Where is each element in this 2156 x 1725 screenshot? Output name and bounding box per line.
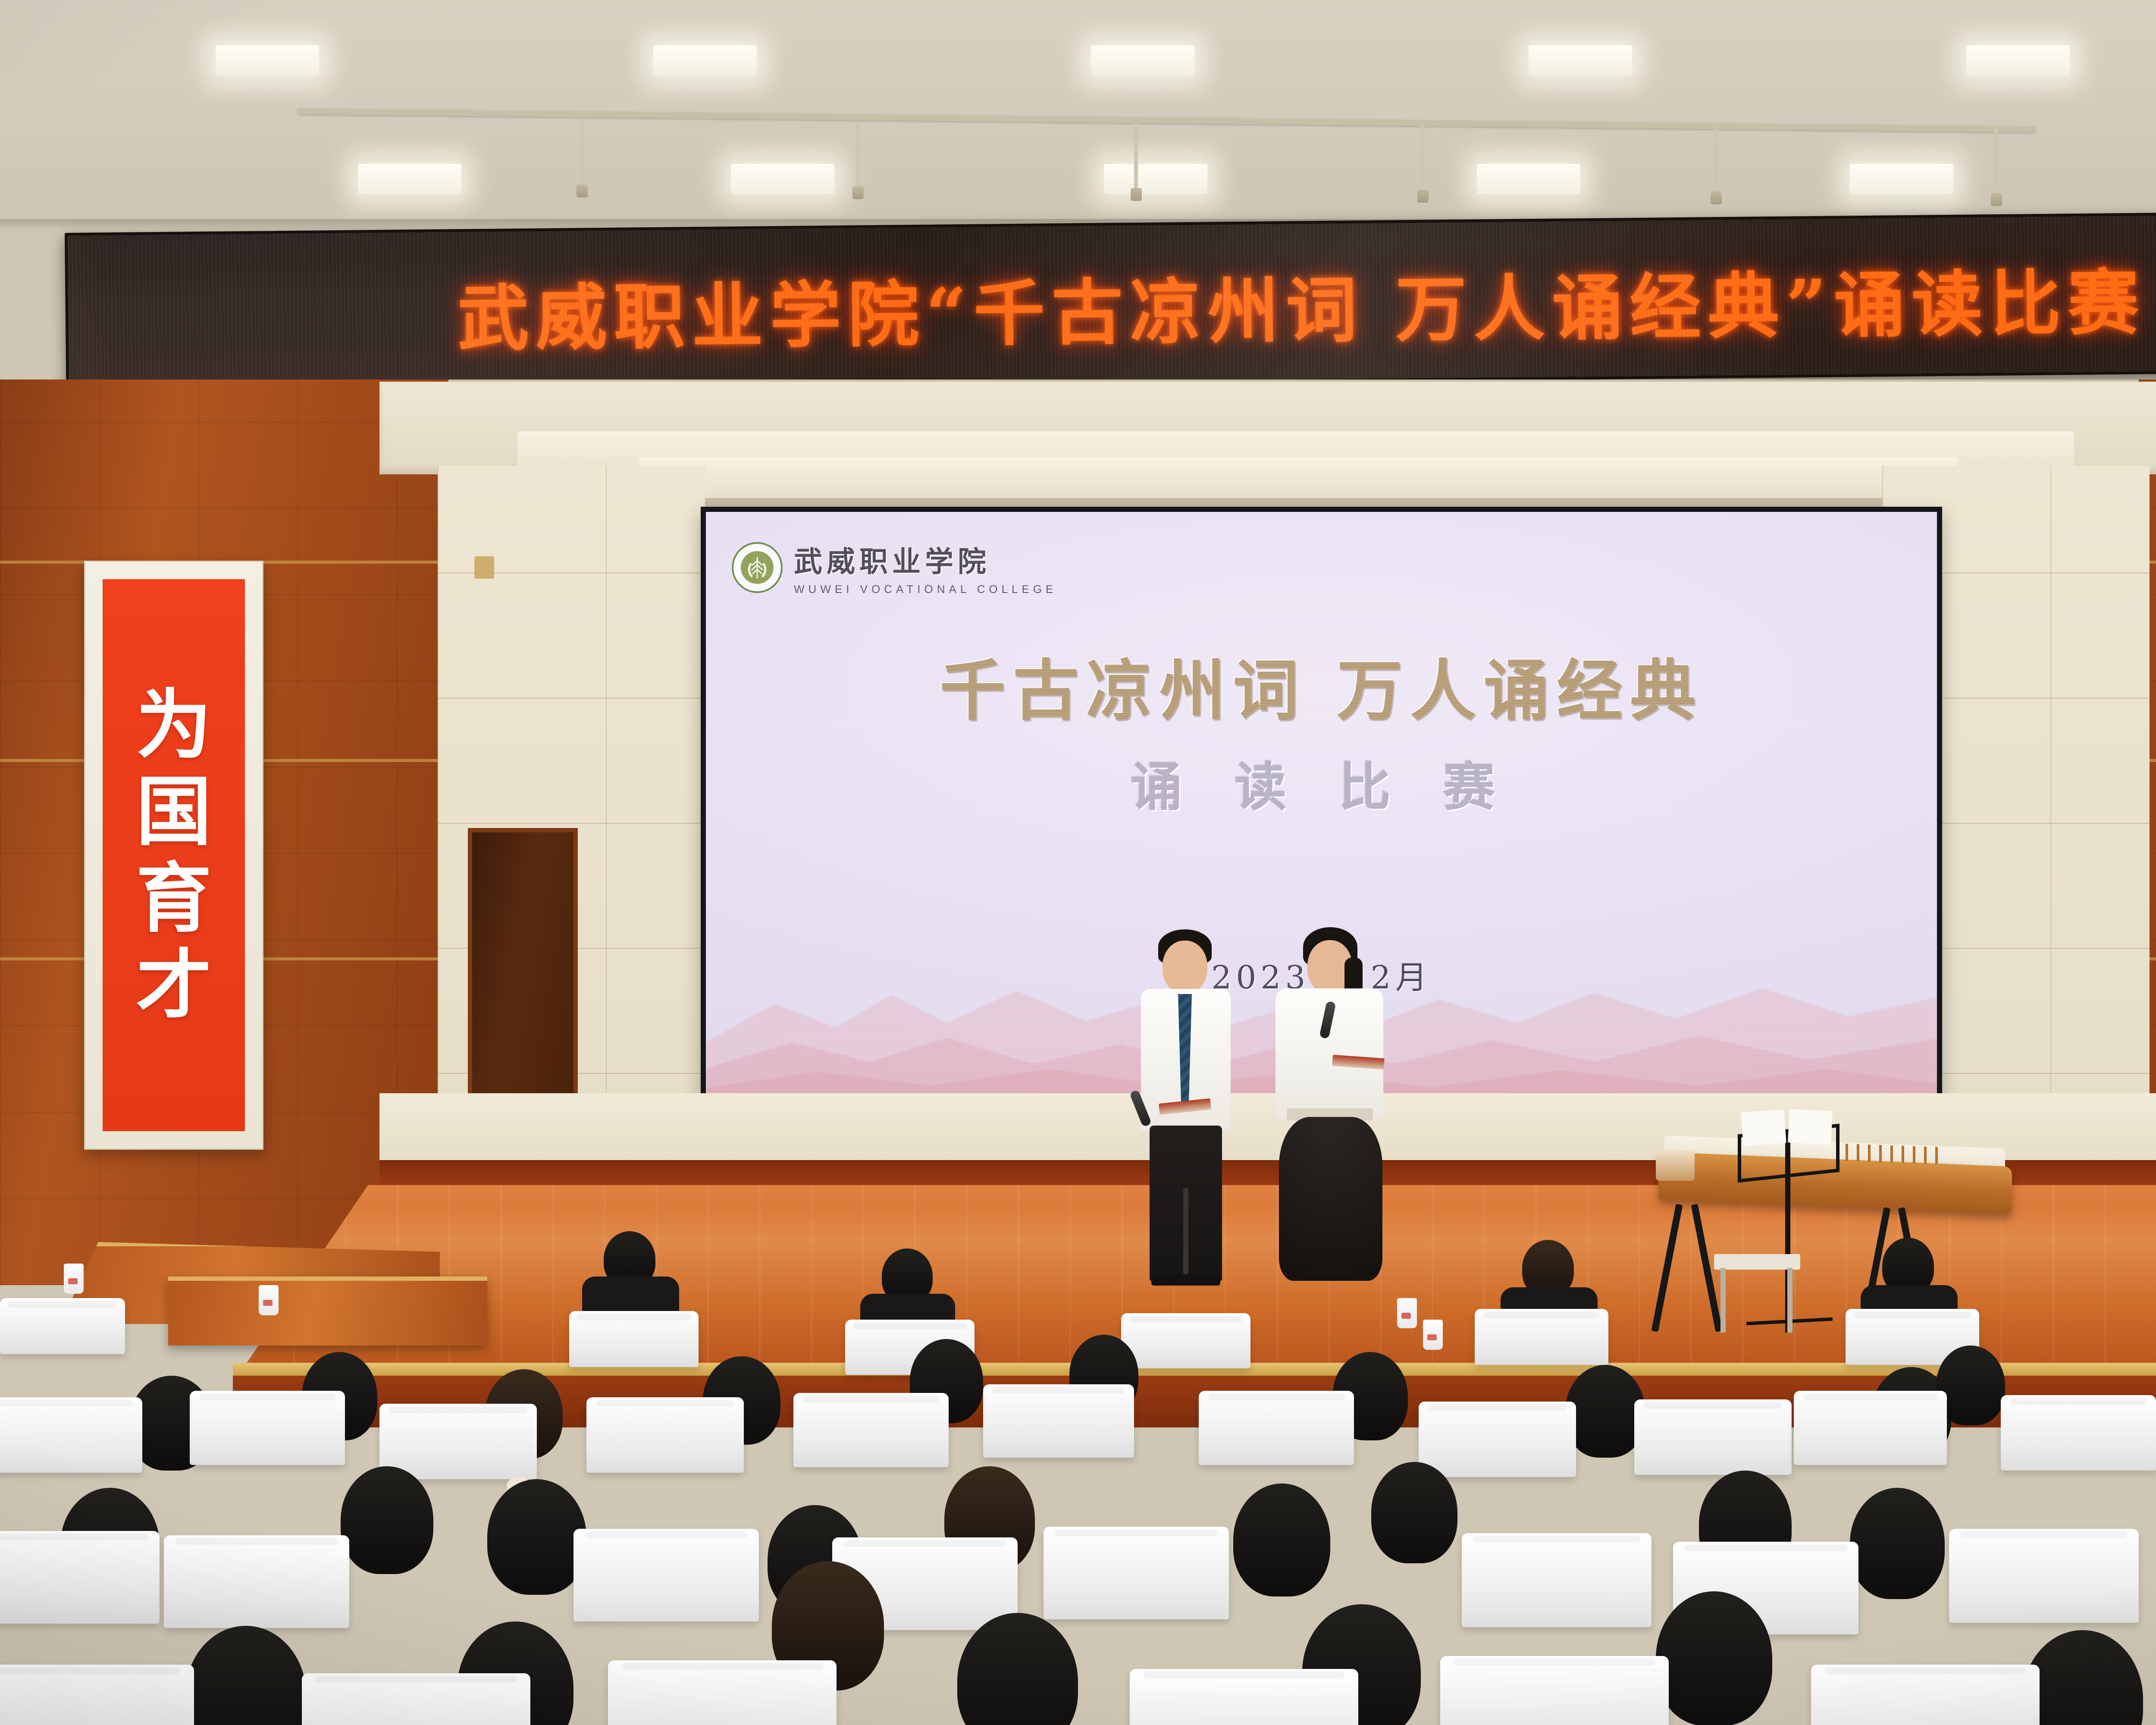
male-host-trouser-gap bbox=[1183, 1188, 1188, 1281]
paper-cup bbox=[1423, 1320, 1443, 1350]
audience-head bbox=[341, 1466, 433, 1574]
seat bbox=[1419, 1402, 1576, 1477]
audience-head bbox=[1233, 1483, 1330, 1596]
recessed-light-icon bbox=[1966, 45, 2070, 75]
spotlight-icon bbox=[1711, 191, 1722, 204]
recessed-light-icon bbox=[1104, 164, 1207, 194]
seat bbox=[0, 1531, 160, 1624]
seat bbox=[1130, 1669, 1358, 1725]
recessed-light-icon bbox=[731, 164, 834, 194]
guzheng-stand-leg-left bbox=[1651, 1204, 1683, 1332]
spotlight-stem bbox=[1421, 125, 1425, 194]
scroll-banner-left: 为 国 育 才 bbox=[84, 561, 263, 1150]
seat bbox=[379, 1404, 537, 1479]
college-crest-icon bbox=[732, 542, 783, 593]
sheet-music-right bbox=[1788, 1109, 1833, 1145]
performer-stool-leg bbox=[1787, 1268, 1792, 1333]
audience-head bbox=[1656, 1591, 1772, 1725]
audience-head bbox=[1850, 1488, 1945, 1599]
slide-title-sub: 诵 读 比 赛 bbox=[706, 745, 1937, 820]
spotlight-stem bbox=[856, 122, 860, 191]
front-desk-left-2 bbox=[168, 1276, 487, 1345]
spotlight-stem bbox=[1134, 123, 1138, 192]
scroll-left-char-2: 国 bbox=[136, 774, 212, 850]
male-host-head bbox=[1163, 941, 1207, 993]
paper-cup bbox=[259, 1285, 279, 1315]
seat bbox=[1811, 1665, 2040, 1725]
seat bbox=[190, 1391, 345, 1465]
recessed-light-icon bbox=[358, 164, 461, 194]
recessed-light-icon bbox=[1529, 45, 1632, 75]
recessed-light-icon bbox=[216, 45, 319, 75]
spotlight-icon bbox=[1991, 193, 2002, 206]
guzheng-bridges bbox=[1846, 1144, 1940, 1164]
seat bbox=[793, 1393, 949, 1467]
spotlight-icon bbox=[852, 186, 864, 199]
ceiling bbox=[0, 0, 2156, 229]
seat bbox=[1199, 1391, 1354, 1465]
seat bbox=[1121, 1313, 1250, 1368]
seat bbox=[1440, 1656, 1669, 1725]
scroll-left-char-1: 为 bbox=[136, 687, 212, 763]
audience-head bbox=[185, 1626, 306, 1725]
slide-title-main: 千古凉州词 万人诵经典 bbox=[706, 654, 1937, 726]
seat bbox=[569, 1311, 699, 1367]
slide-logo-name-cn: 武威职业学院 bbox=[794, 539, 1057, 580]
seat bbox=[0, 1665, 194, 1725]
guzheng-head-cap bbox=[1656, 1151, 1695, 1181]
lighting-track-rail bbox=[298, 108, 2035, 132]
spotlight-stem bbox=[1994, 129, 1998, 198]
scroll-left-char-4: 才 bbox=[136, 947, 212, 1023]
crest-tree-glyph bbox=[747, 556, 767, 579]
male-host-shoes bbox=[1151, 1274, 1220, 1286]
seat bbox=[1462, 1533, 1651, 1627]
recessed-light-icon bbox=[1850, 164, 1953, 194]
seat bbox=[164, 1535, 349, 1628]
performer-stool-seat bbox=[1714, 1254, 1800, 1270]
audience-head bbox=[2022, 1630, 2143, 1725]
ceiling-light-row-upper bbox=[216, 45, 2070, 75]
spotlight-icon bbox=[1131, 188, 1142, 201]
led-banner: 武威职业学院“千古凉州词 万人诵经典”诵读比赛 bbox=[65, 209, 2156, 394]
crest-disc bbox=[741, 551, 774, 584]
performer-male-host bbox=[1130, 929, 1242, 1283]
seat bbox=[1949, 1529, 2139, 1623]
seat bbox=[0, 1298, 125, 1354]
seat bbox=[586, 1397, 744, 1473]
seat bbox=[983, 1384, 1134, 1458]
seat bbox=[1634, 1399, 1792, 1475]
seat bbox=[1794, 1391, 1947, 1465]
spotlight-stem bbox=[1714, 127, 1718, 196]
slide-logo-name-en: WUWEI VOCATIONAL COLLEGE bbox=[794, 583, 1057, 596]
recessed-light-icon bbox=[653, 45, 757, 75]
performer-female-host bbox=[1268, 927, 1393, 1285]
paper-cup bbox=[1397, 1298, 1417, 1328]
slide-logo-text: 武威职业学院 WUWEI VOCATIONAL COLLEGE bbox=[794, 539, 1057, 596]
auditorium-photo: 武威职业学院“千古凉州词 万人诵经典”诵读比赛 为 国 育 才 为 党 育 人 bbox=[0, 0, 2156, 1725]
seat bbox=[573, 1529, 759, 1621]
audience-head bbox=[1565, 1365, 1645, 1458]
sheet-music-left bbox=[1741, 1110, 1786, 1146]
audience-head bbox=[1371, 1462, 1457, 1563]
recessed-light-icon bbox=[1091, 45, 1194, 75]
proscenium-coffer bbox=[638, 457, 1958, 498]
seat bbox=[608, 1660, 837, 1725]
slide-title-block: 千古凉州词 万人诵经典 诵 读 比 赛 bbox=[706, 654, 1937, 820]
female-host-skirt bbox=[1279, 1117, 1382, 1281]
performer-stool-leg bbox=[1720, 1268, 1726, 1333]
slide-college-logo: 武威职业学院 WUWEI VOCATIONAL COLLEGE bbox=[732, 539, 1057, 596]
spotlight-icon bbox=[577, 185, 588, 198]
paper-cup bbox=[64, 1264, 84, 1294]
led-banner-text: 武威职业学院“千古凉州词 万人诵经典”诵读比赛 bbox=[68, 241, 2156, 368]
recessed-light-icon bbox=[1477, 164, 1580, 194]
seat bbox=[1475, 1309, 1608, 1365]
wall-outlet-icon bbox=[474, 556, 494, 579]
spotlight-stem bbox=[580, 120, 584, 189]
seat bbox=[1044, 1527, 1229, 1619]
seat bbox=[2001, 1395, 2156, 1471]
seat bbox=[0, 1397, 142, 1473]
audience-head bbox=[487, 1479, 586, 1595]
scroll-left-char-3: 育 bbox=[136, 861, 212, 936]
scroll-banner-left-inner: 为 国 育 才 bbox=[103, 579, 245, 1131]
seat bbox=[302, 1673, 530, 1725]
spotlight-icon bbox=[1417, 190, 1429, 203]
